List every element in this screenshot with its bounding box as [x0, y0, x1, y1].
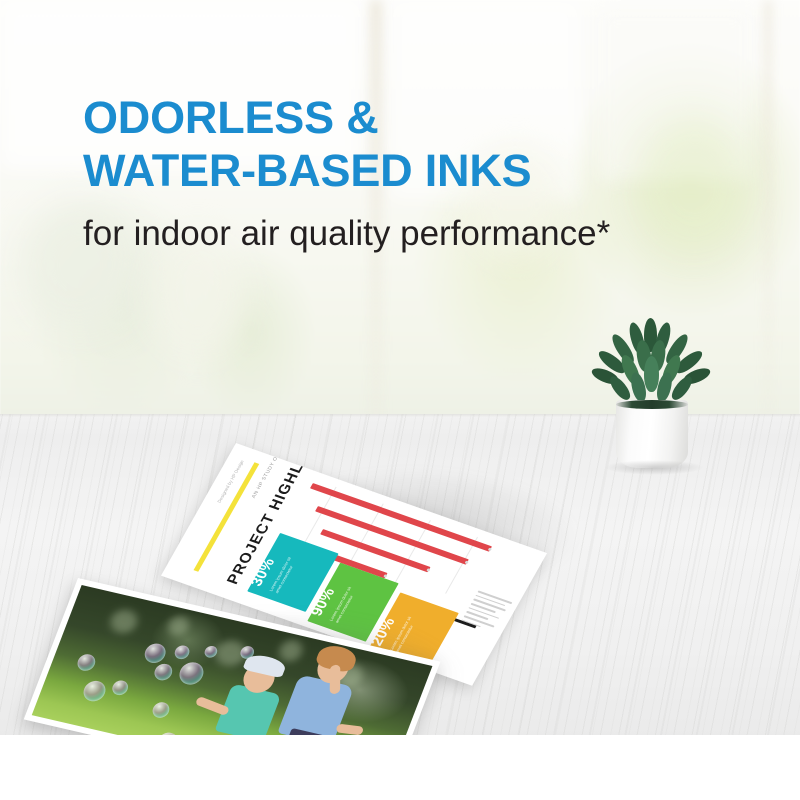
- plant-pot: [616, 400, 688, 468]
- window-mullion: [370, 0, 382, 420]
- potted-plant: [596, 316, 708, 468]
- page-title: ODORLESS & WATER-BASED INKS: [83, 92, 743, 197]
- headline-line-2: WATER-BASED INKS: [83, 145, 743, 198]
- headline-line-1: ODORLESS &: [83, 92, 743, 145]
- page-subtitle: for indoor air quality performance*: [83, 214, 783, 254]
- window-mullion: [763, 0, 773, 420]
- plant-shadow: [604, 460, 704, 475]
- marketing-banner: ODORLESS & WATER-BASED INKS for indoor a…: [0, 0, 800, 800]
- brochure-bar: [320, 529, 430, 572]
- footnote-bar: * Up to A3+ page size HP printing system…: [0, 735, 800, 800]
- stat-caption: Lorem ipsum dolor sit amet consectetur: [268, 550, 302, 595]
- plant-pot-rim: [616, 400, 688, 409]
